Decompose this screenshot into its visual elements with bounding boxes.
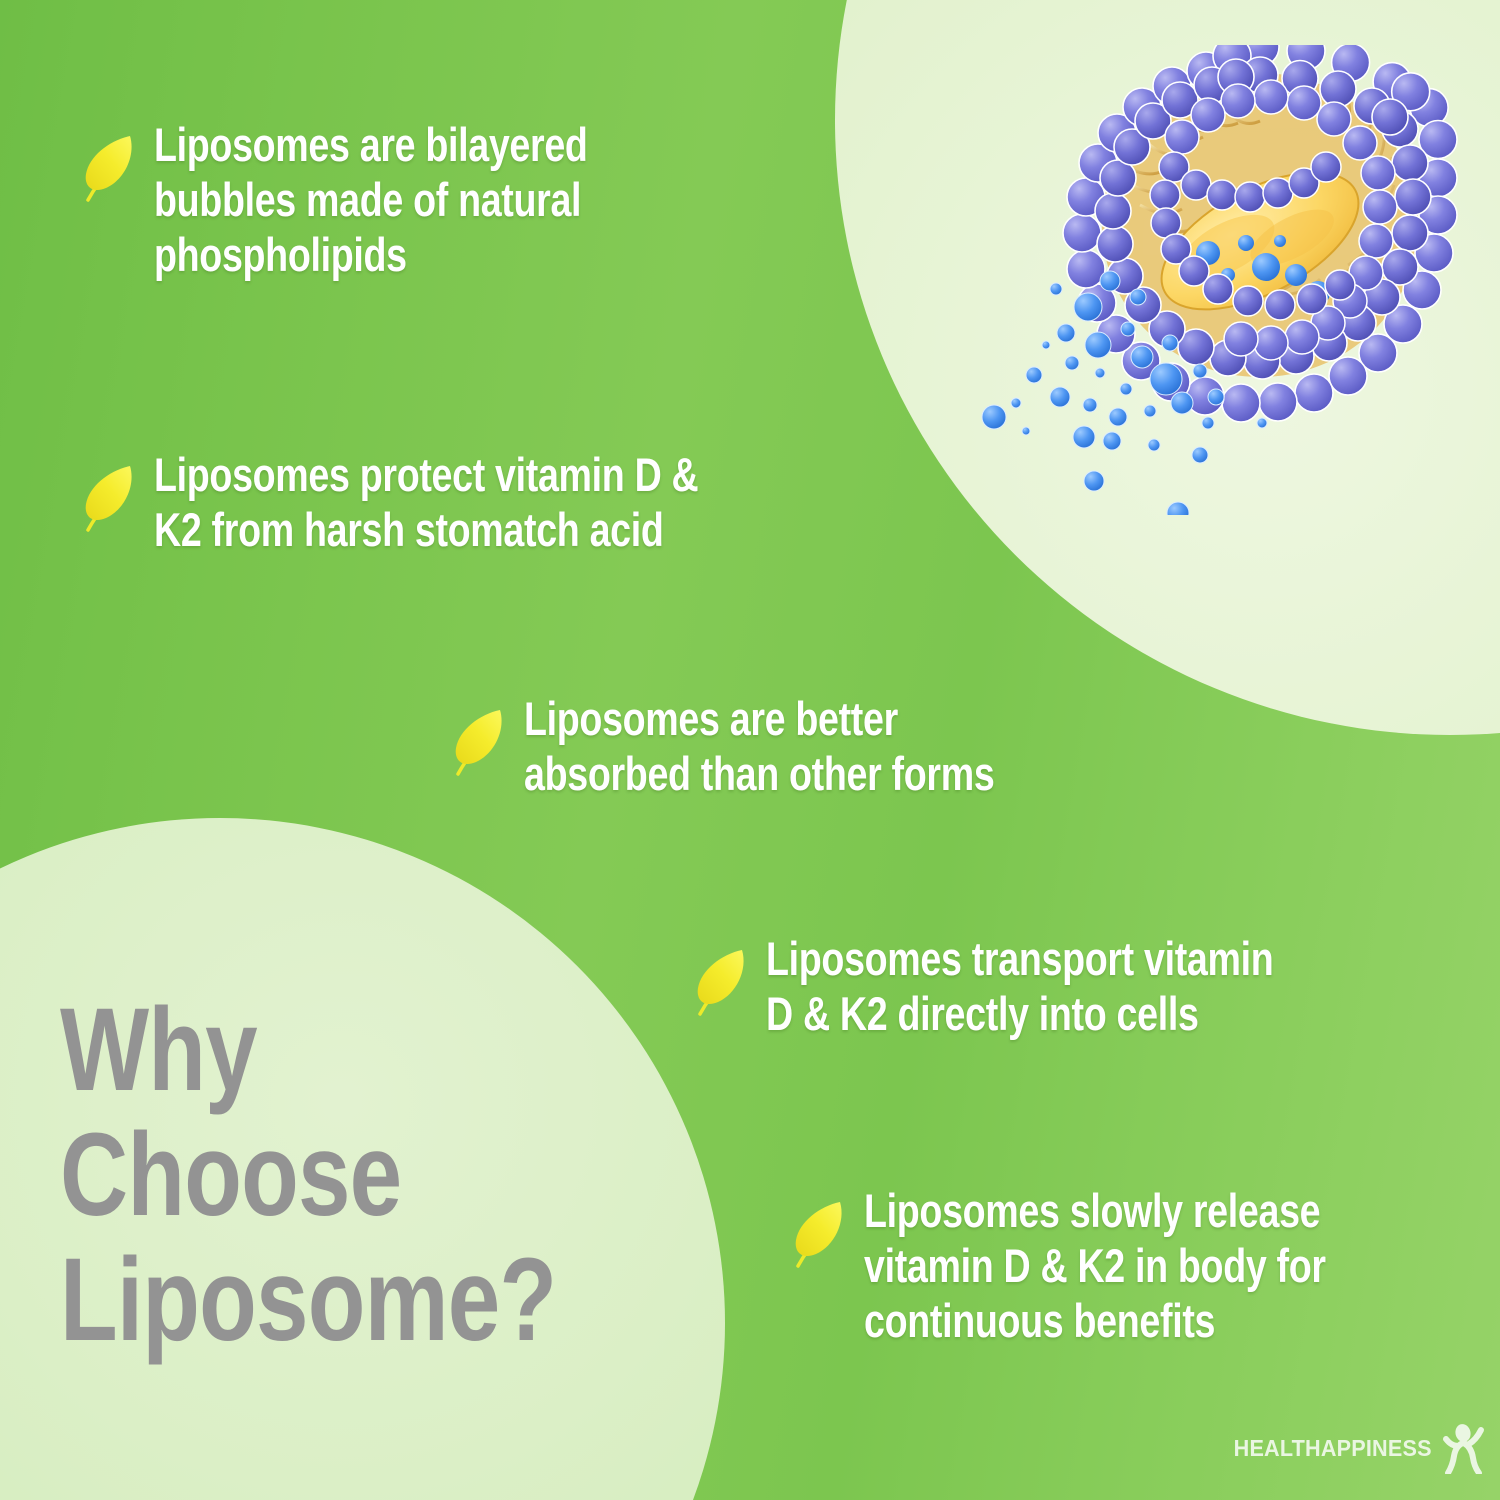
brand-name: HEALTHAPPINESS — [1234, 1435, 1432, 1462]
page-title: Why Choose Liposome? — [60, 988, 556, 1363]
person-figure-icon — [1440, 1422, 1486, 1474]
leaf-icon — [448, 704, 510, 782]
bullet-text-3: Liposomes are better absorbed than other… — [524, 692, 1132, 802]
bullet-item-5: Liposomes slowly release vitamin D & K2 … — [788, 1184, 1500, 1349]
bullet-item-4: Liposomes transport vitamin D & K2 direc… — [690, 932, 1500, 1042]
infographic-canvas: Liposomes are bilayered bubbles made of … — [0, 0, 1500, 1500]
leaf-icon — [78, 130, 140, 208]
leaf-icon — [788, 1196, 850, 1274]
leaf-icon — [78, 460, 140, 538]
leaf-icon — [690, 944, 752, 1022]
bullet-text-5: Liposomes slowly release vitamin D & K2 … — [864, 1184, 1456, 1349]
bullet-item-2: Liposomes protect vitamin D & K2 from ha… — [78, 448, 1034, 558]
liposome-illustration — [960, 45, 1480, 515]
bullet-text-1: Liposomes are bilayered bubbles made of … — [154, 118, 706, 283]
bullet-item-1: Liposomes are bilayered bubbles made of … — [78, 118, 844, 283]
bullet-item-3: Liposomes are better absorbed than other… — [448, 692, 1284, 802]
bullet-text-4: Liposomes transport vitamin D & K2 direc… — [766, 932, 1422, 1042]
brand-logo: HEALTHAPPINESS — [1221, 1422, 1486, 1474]
bullet-text-2: Liposomes protect vitamin D & K2 from ha… — [154, 448, 858, 558]
